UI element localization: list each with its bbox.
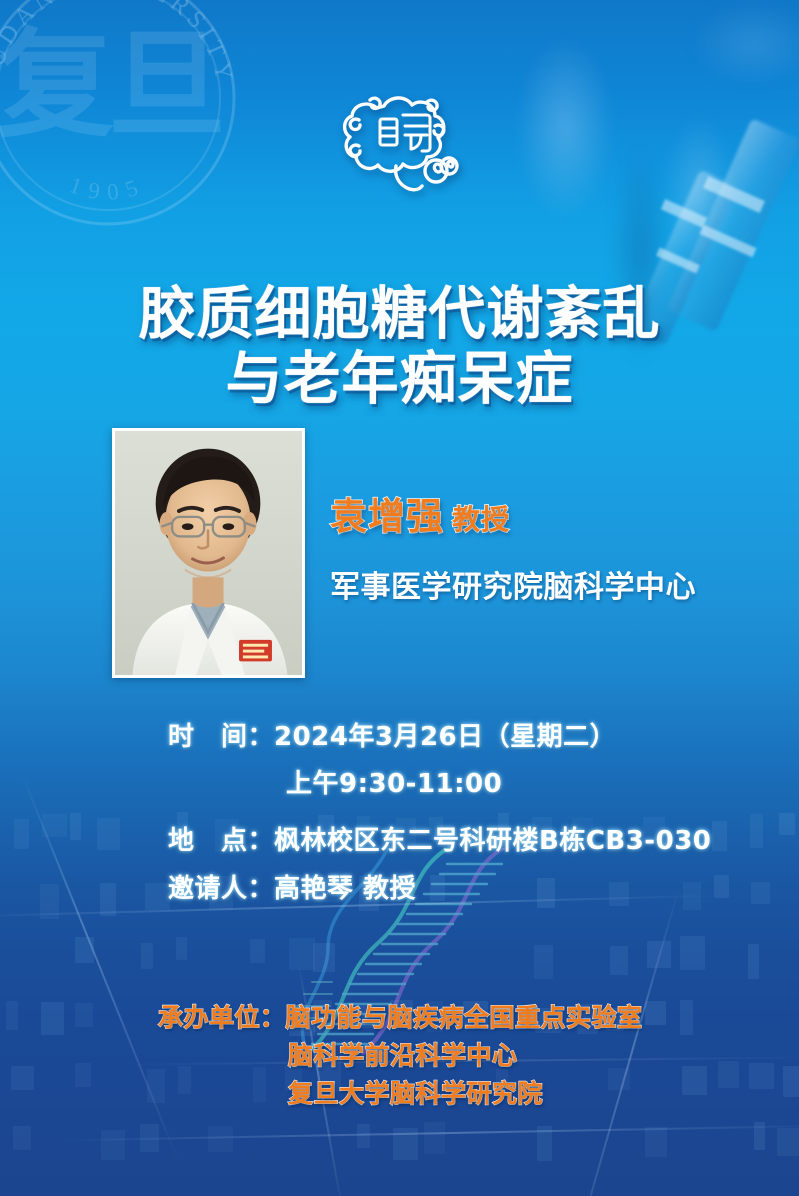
organizer-line-2: 脑科学前沿科学中心: [288, 1036, 518, 1072]
speaker-name-text: 袁增强: [330, 495, 444, 538]
speaker-rank: 教授: [452, 503, 510, 536]
event-time-second-row: 上午9:30-11:00: [286, 763, 502, 800]
organizer-line-1: 承办单位：脑功能与脑疾病全国重点实验室: [158, 998, 643, 1034]
organizer-line-3: 复旦大学脑科学研究院: [288, 1074, 543, 1110]
seminar-poster: FUDAN UNIVERSITY 1905 复旦: [0, 0, 799, 1196]
speaker-affiliation: 军事医学研究院脑科学中心: [330, 562, 696, 606]
speaker-photo: [112, 428, 305, 678]
title-line-1: 胶质细胞糖代谢紊乱: [0, 282, 799, 346]
speaker-name: 袁增强教授: [330, 486, 510, 540]
event-time-row: 时 间：2024年3月26日（星期二）: [168, 716, 616, 753]
title-line-2: 与老年痴呆症: [0, 347, 799, 411]
event-venue-row: 地 点：枫林校区东二号科研楼B栋CB3-030: [168, 820, 711, 857]
event-inviter-row: 邀请人：高艳琴 教授: [168, 868, 416, 905]
page-title: 胶质细胞糖代谢紊乱 与老年痴呆症: [0, 282, 799, 411]
